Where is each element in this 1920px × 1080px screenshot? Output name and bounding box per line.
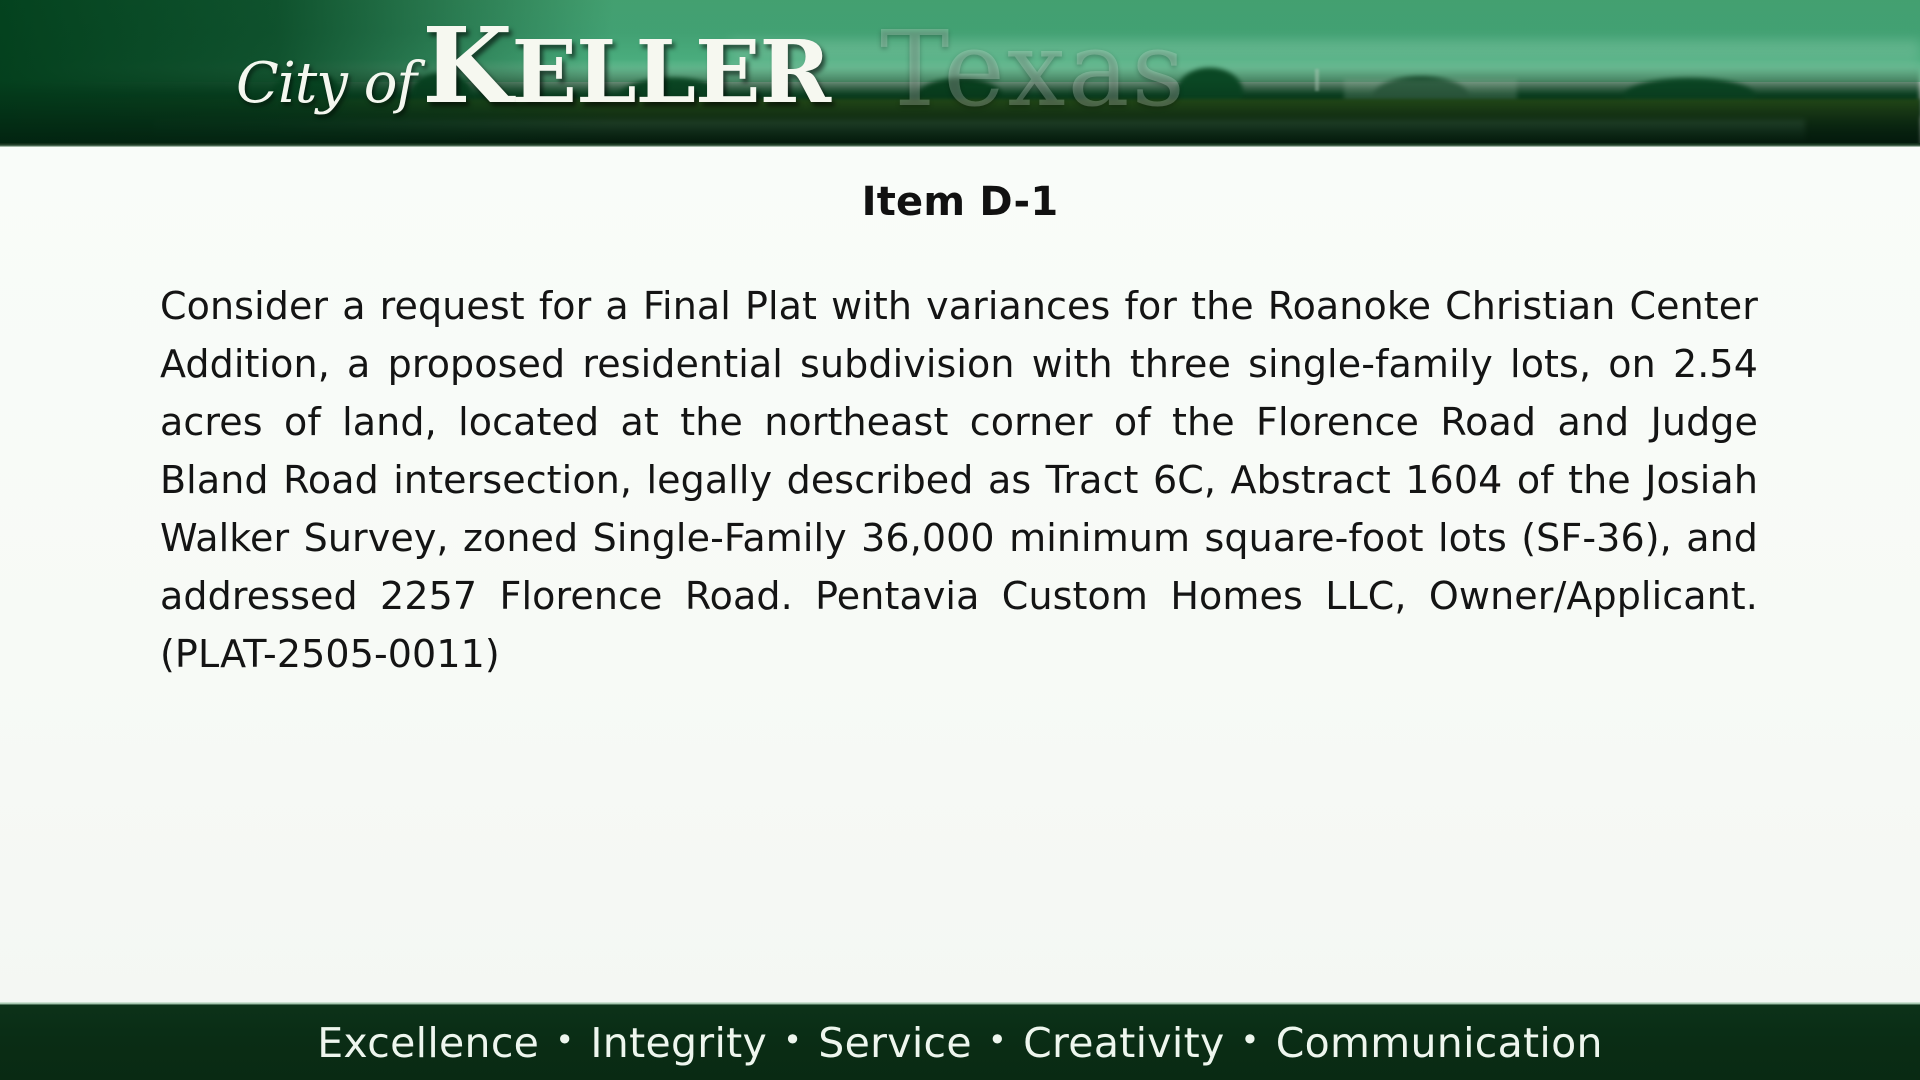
presentation-slide: Texas City of KELLER Item D-1 Consider a… (0, 0, 1920, 1080)
texas-watermark-text: Texas (880, 8, 1187, 130)
agenda-item-description: Consider a request for a Final Plat with… (160, 277, 1758, 683)
footer-bullet-separator: • (988, 1024, 1007, 1056)
footer-bullet-separator: • (1241, 1024, 1260, 1056)
city-of-keller-logo: City of KELLER (236, 16, 830, 116)
slide-content-area: Item D-1 Consider a request for a Final … (0, 147, 1920, 1005)
footer-value-creativity: Creativity (1023, 1019, 1224, 1067)
footer-value-integrity: Integrity (590, 1019, 767, 1067)
logo-city-of-text: City of (236, 51, 416, 116)
footer-bullet-separator: • (783, 1024, 802, 1056)
logo-keller-text: KELLER (422, 16, 830, 116)
header-banner: Texas City of KELLER (0, 0, 1920, 146)
photo-building (1344, 79, 1517, 102)
footer-value-communication: Communication (1276, 1019, 1603, 1067)
page-title: Item D-1 (0, 179, 1920, 225)
footer-value-service: Service (818, 1019, 972, 1067)
photo-steeple (1315, 69, 1319, 91)
footer-bullet-separator: • (555, 1024, 574, 1056)
core-values-list: Excellence•Integrity•Service•Creativity•… (317, 1019, 1603, 1067)
footer-bar: Excellence•Integrity•Service•Creativity•… (0, 1005, 1920, 1080)
footer-value-excellence: Excellence (317, 1019, 539, 1067)
